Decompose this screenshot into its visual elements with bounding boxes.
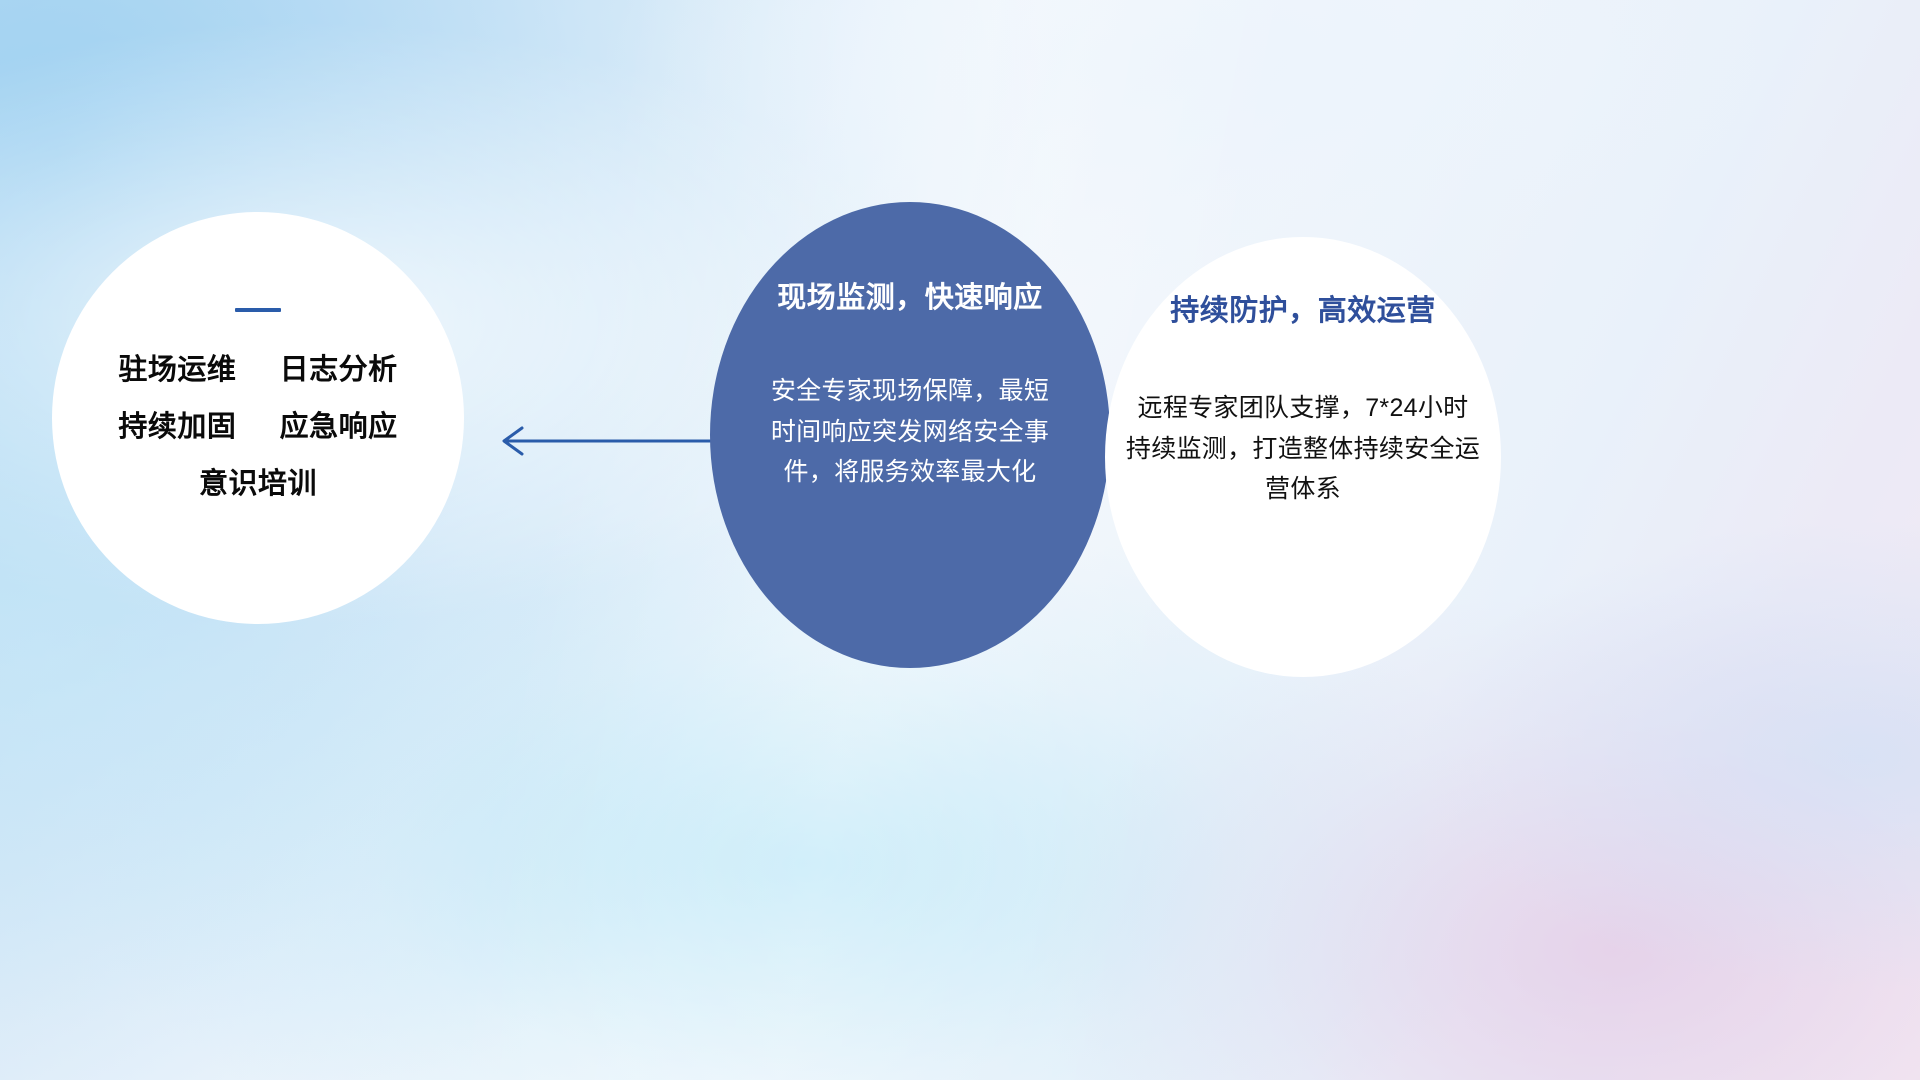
left-capability-list: 驻场运维 日志分析 持续加固 应急响应 意识培训 bbox=[118, 356, 397, 499]
left-capability-circle[interactable]: 驻场运维 日志分析 持续加固 应急响应 意识培训 bbox=[52, 212, 464, 624]
divider-icon bbox=[235, 308, 281, 312]
list-item: 意识培训 bbox=[118, 470, 397, 499]
capability-label: 驻场运维 bbox=[118, 354, 236, 386]
right-operations-circle[interactable]: 持续防护，高效运营 远程专家团队支撑，7*24小时持续监测，打造整体持续安全运营… bbox=[1105, 237, 1501, 677]
slide-canvas: 驻场运维 日志分析 持续加固 应急响应 意识培训 现场监测，快速响应 安全专家现… bbox=[0, 0, 1920, 1080]
list-item: 持续加固 应急响应 bbox=[118, 413, 397, 442]
arrow-left-icon bbox=[480, 410, 740, 472]
middle-onsite-circle[interactable]: 现场监测，快速响应 安全专家现场保障，最短时间响应突发网络安全事件，将服务效率最… bbox=[710, 202, 1110, 668]
middle-circle-title: 现场监测，快速响应 bbox=[777, 284, 1043, 313]
capability-label: 日志分析 bbox=[280, 354, 398, 386]
right-circle-body: 远程专家团队支撑，7*24小时持续监测，打造整体持续安全运营体系 bbox=[1125, 388, 1481, 510]
capability-label: 持续加固 bbox=[118, 411, 236, 443]
right-circle-title: 持续防护，高效运营 bbox=[1170, 297, 1436, 326]
list-item: 驻场运维 日志分析 bbox=[118, 356, 397, 385]
capability-label: 意识培训 bbox=[199, 468, 317, 500]
middle-circle-body: 安全专家现场保障，最短时间响应突发网络安全事件，将服务效率最大化 bbox=[760, 371, 1060, 493]
capability-label: 应急响应 bbox=[280, 411, 398, 443]
